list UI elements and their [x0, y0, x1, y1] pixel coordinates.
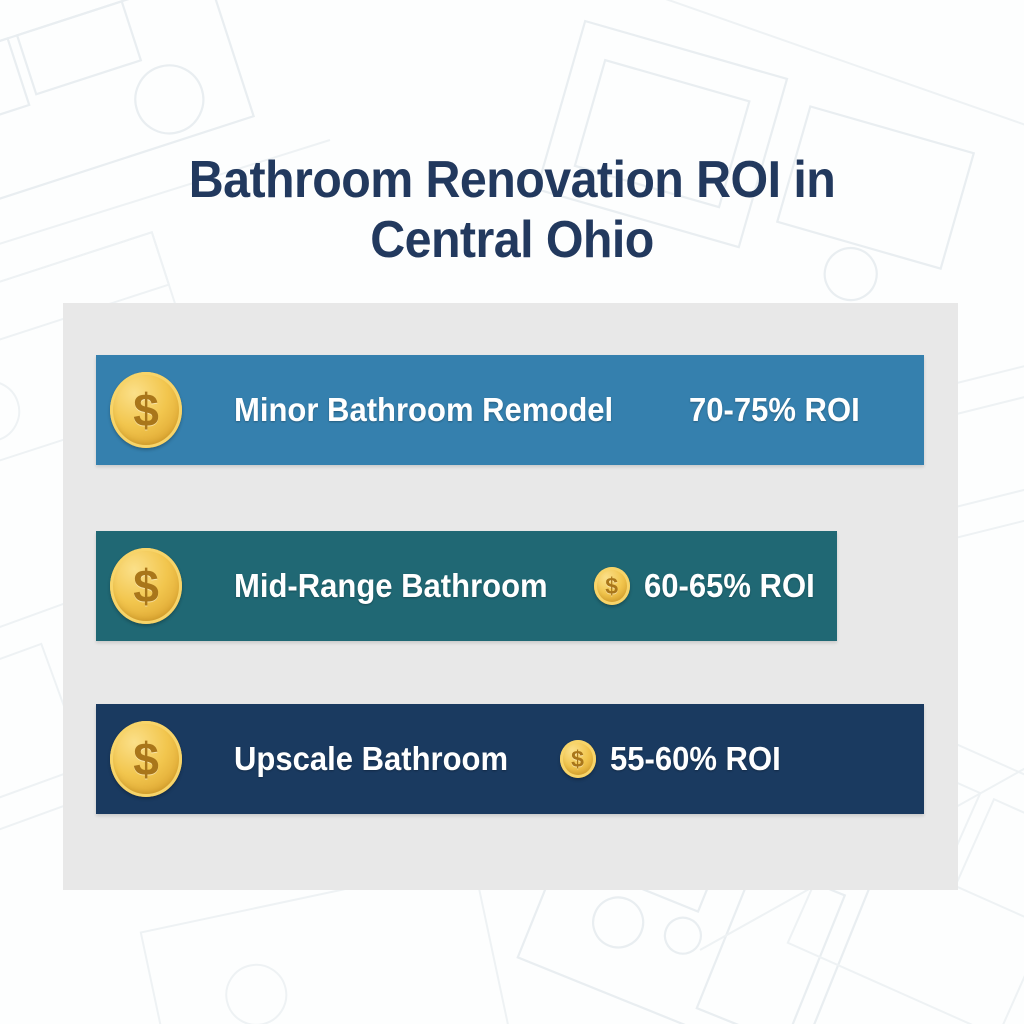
infographic-canvas: Bathroom Renovation ROI in Central Ohio …	[0, 0, 1024, 1024]
roi-bar-mid-range-bathroom[interactable]: $ Mid-Range Bathroom $ 60-65% ROI	[96, 531, 837, 641]
dollar-coin-icon-inline: $	[560, 740, 596, 778]
dollar-sign-glyph: $	[133, 387, 159, 433]
dollar-coin-icon: $	[110, 721, 182, 797]
dollar-sign-glyph: $	[133, 736, 159, 782]
bar-value-mid-range: 60-65% ROI	[644, 567, 815, 605]
bar-label-upscale: Upscale Bathroom	[234, 740, 508, 778]
bar-label-minor: Minor Bathroom Remodel	[234, 391, 613, 429]
title-line-1: Bathroom Renovation ROI in	[36, 150, 988, 210]
bar-value-upscale: 55-60% ROI	[610, 740, 781, 778]
dollar-sign-glyph: $	[133, 563, 159, 609]
dollar-coin-icon-inline: $	[594, 567, 630, 605]
dollar-coin-icon: $	[110, 548, 182, 624]
title-line-2: Central Ohio	[36, 210, 988, 270]
dollar-coin-icon: $	[110, 372, 182, 448]
roi-bar-upscale-bathroom[interactable]: $ Upscale Bathroom $ 55-60% ROI	[96, 704, 924, 814]
roi-bar-minor-bathroom-remodel[interactable]: $ Minor Bathroom Remodel 70-75% ROI	[96, 355, 924, 465]
page-title: Bathroom Renovation ROI in Central Ohio	[0, 150, 1024, 270]
dollar-sign-glyph: $	[605, 575, 618, 598]
dollar-sign-glyph: $	[571, 748, 584, 771]
bar-label-mid-range: Mid-Range Bathroom	[234, 567, 548, 605]
bar-value-minor: 70-75% ROI	[689, 391, 860, 429]
